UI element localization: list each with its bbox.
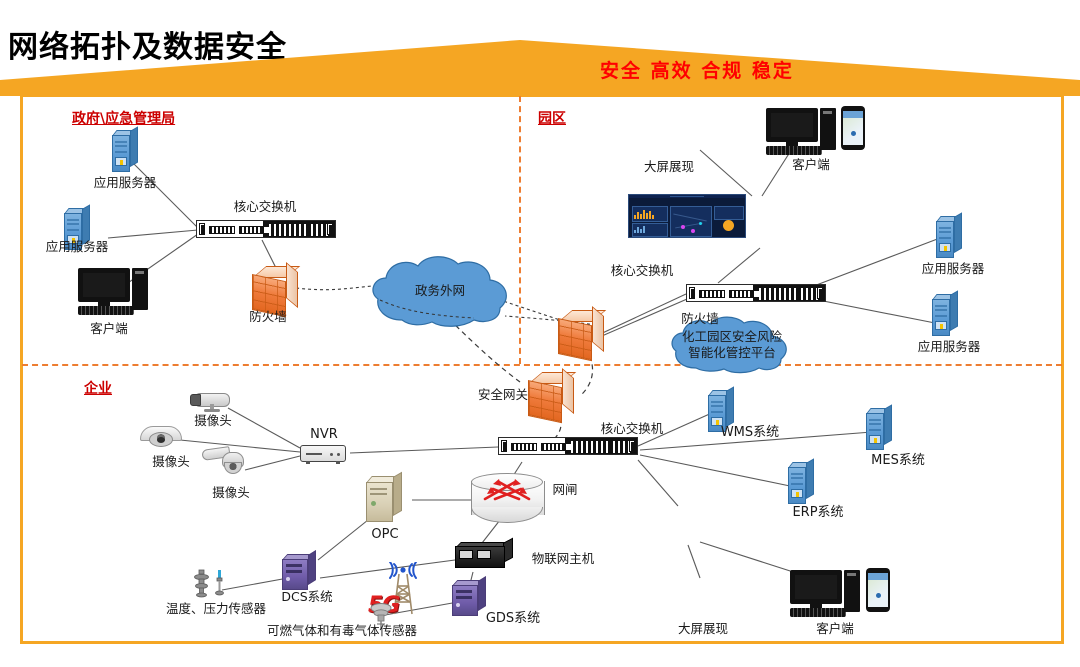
ent-mes[interactable] xyxy=(866,408,892,450)
map-marker xyxy=(699,222,702,225)
ent-camera-2-label: 摄像头 xyxy=(136,455,206,469)
ent-sensor-temp-pressure-label: 温度、压力传感器 xyxy=(146,602,286,616)
ent-camera-1[interactable] xyxy=(190,390,234,412)
park-firewall-label: 防火墙 xyxy=(660,312,740,326)
network-switch-icon xyxy=(196,220,336,238)
ent-gds[interactable] xyxy=(452,580,486,616)
gov-core-switch-label: 核心交换机 xyxy=(215,200,315,214)
security-gateway-label: 安全网关 xyxy=(468,388,538,402)
ent-nvr[interactable] xyxy=(300,445,346,462)
server-icon xyxy=(112,130,138,172)
gov-app-server-1[interactable] xyxy=(112,130,138,172)
zone-label-park: 园区 xyxy=(538,108,566,128)
park-app-server-2[interactable] xyxy=(932,294,958,336)
bigscreen-bar-chart xyxy=(634,209,654,219)
firewall-icon xyxy=(252,266,298,310)
bullet-camera-icon xyxy=(190,390,234,412)
gov-cloud-label: 政务外网 xyxy=(366,252,514,330)
ent-wms-label: WMS系统 xyxy=(710,426,790,441)
desktop-computer-icon xyxy=(766,108,840,160)
ent-erp-label: ERP系统 xyxy=(778,506,858,521)
park-app-server-1[interactable] xyxy=(936,216,962,258)
zone-label-government: 政府\应急管理局 xyxy=(72,108,175,128)
ent-camera-3[interactable] xyxy=(200,446,244,474)
zone-label-enterprise: 企业 xyxy=(84,378,112,398)
park-client-label: 客户端 xyxy=(776,158,846,172)
ent-iot-host-label: 物联网主机 xyxy=(518,552,608,566)
nvr-icon xyxy=(300,445,346,462)
gov-client-label: 客户端 xyxy=(74,322,144,336)
banner-shape xyxy=(0,40,1080,95)
ent-camera-1-label: 摄像头 xyxy=(178,414,248,428)
horizontal-divider xyxy=(22,364,1062,366)
banner-slogan: 安全 高效 合规 稳定 xyxy=(600,56,794,83)
server-icon xyxy=(932,294,958,336)
temperature-pressure-sensor-icon xyxy=(192,568,232,602)
ent-client-label: 客户端 xyxy=(800,622,870,636)
ent-erp[interactable] xyxy=(788,462,814,504)
gov-core-switch[interactable] xyxy=(196,220,336,238)
gov-app-server-2-label: 应用服务器 xyxy=(32,240,122,254)
ent-opc[interactable] xyxy=(366,476,402,522)
park-client-phone[interactable] xyxy=(841,106,865,150)
dome-camera-icon xyxy=(140,426,180,448)
desktop-computer-icon xyxy=(78,268,152,320)
cross-arrows-icon xyxy=(481,477,533,507)
ent-camera-2[interactable] xyxy=(140,426,180,448)
ent-sensor-gas-label: 可燃气体和有毒气体传感器 xyxy=(232,624,452,638)
ent-opc-label: OPC xyxy=(360,528,410,543)
bigscreen-bar-chart-2 xyxy=(634,225,645,233)
map-marker xyxy=(681,225,685,229)
ent-client[interactable] xyxy=(790,570,864,622)
ent-core-switch-label: 核心交换机 xyxy=(582,422,682,436)
park-firewall[interactable] xyxy=(558,310,604,354)
server-icon xyxy=(866,408,892,450)
gov-firewall-label: 防火墙 xyxy=(228,310,308,324)
ent-core-switch[interactable] xyxy=(498,437,638,455)
ent-gds-label: GDS系统 xyxy=(478,612,548,627)
mobile-phone-icon xyxy=(866,568,890,612)
bigscreen-header xyxy=(629,195,745,198)
park-app-server-2-label: 应用服务器 xyxy=(904,340,994,354)
park-client[interactable] xyxy=(766,108,840,160)
topology-diagram-canvas: 网络拓扑及数据安全 安全 高效 合规 稳定 xyxy=(0,0,1080,667)
gov-firewall[interactable] xyxy=(252,266,298,310)
bigscreen-panel xyxy=(714,206,744,220)
ptz-camera-icon xyxy=(200,446,244,474)
ent-nvr-label: NVR xyxy=(304,428,344,443)
park-app-server-1-label: 应用服务器 xyxy=(908,262,998,276)
iot-host-icon xyxy=(455,542,513,570)
gov-external-network-cloud[interactable]: 政务外网 xyxy=(366,252,514,330)
network-gatekeeper-icon xyxy=(471,473,543,523)
park-core-switch-label: 核心交换机 xyxy=(592,264,692,278)
park-core-switch[interactable] xyxy=(686,284,826,302)
ent-dcs[interactable] xyxy=(282,554,316,590)
ent-bigscreen-label: 大屏展现 xyxy=(658,622,748,636)
ent-gatekeeper-label: 网闸 xyxy=(540,483,590,497)
ent-mes-label: MES系统 xyxy=(858,454,938,469)
map-marker xyxy=(691,229,695,233)
ent-gatekeeper[interactable] xyxy=(471,473,543,523)
gov-app-server-1-label: 应用服务器 xyxy=(80,176,170,190)
desktop-computer-icon xyxy=(790,570,864,622)
park-bigscreen-label: 大屏展现 xyxy=(624,160,714,174)
server-icon xyxy=(788,462,814,504)
network-switch-icon xyxy=(498,437,638,455)
gds-server-icon xyxy=(452,580,486,616)
park-bigscreen[interactable] xyxy=(628,194,746,238)
ent-camera-3-label: 摄像头 xyxy=(196,486,266,500)
vertical-divider xyxy=(519,96,521,364)
ent-client-phone[interactable] xyxy=(866,568,890,612)
server-icon xyxy=(936,216,962,258)
bigscreen-gauge xyxy=(723,220,734,231)
firewall-icon xyxy=(558,310,604,354)
ent-iot-host[interactable] xyxy=(455,542,513,570)
opc-server-icon xyxy=(366,476,402,522)
gov-client[interactable] xyxy=(78,268,152,320)
network-switch-icon xyxy=(686,284,826,302)
dcs-server-icon xyxy=(282,554,316,590)
mobile-phone-icon xyxy=(841,106,865,150)
